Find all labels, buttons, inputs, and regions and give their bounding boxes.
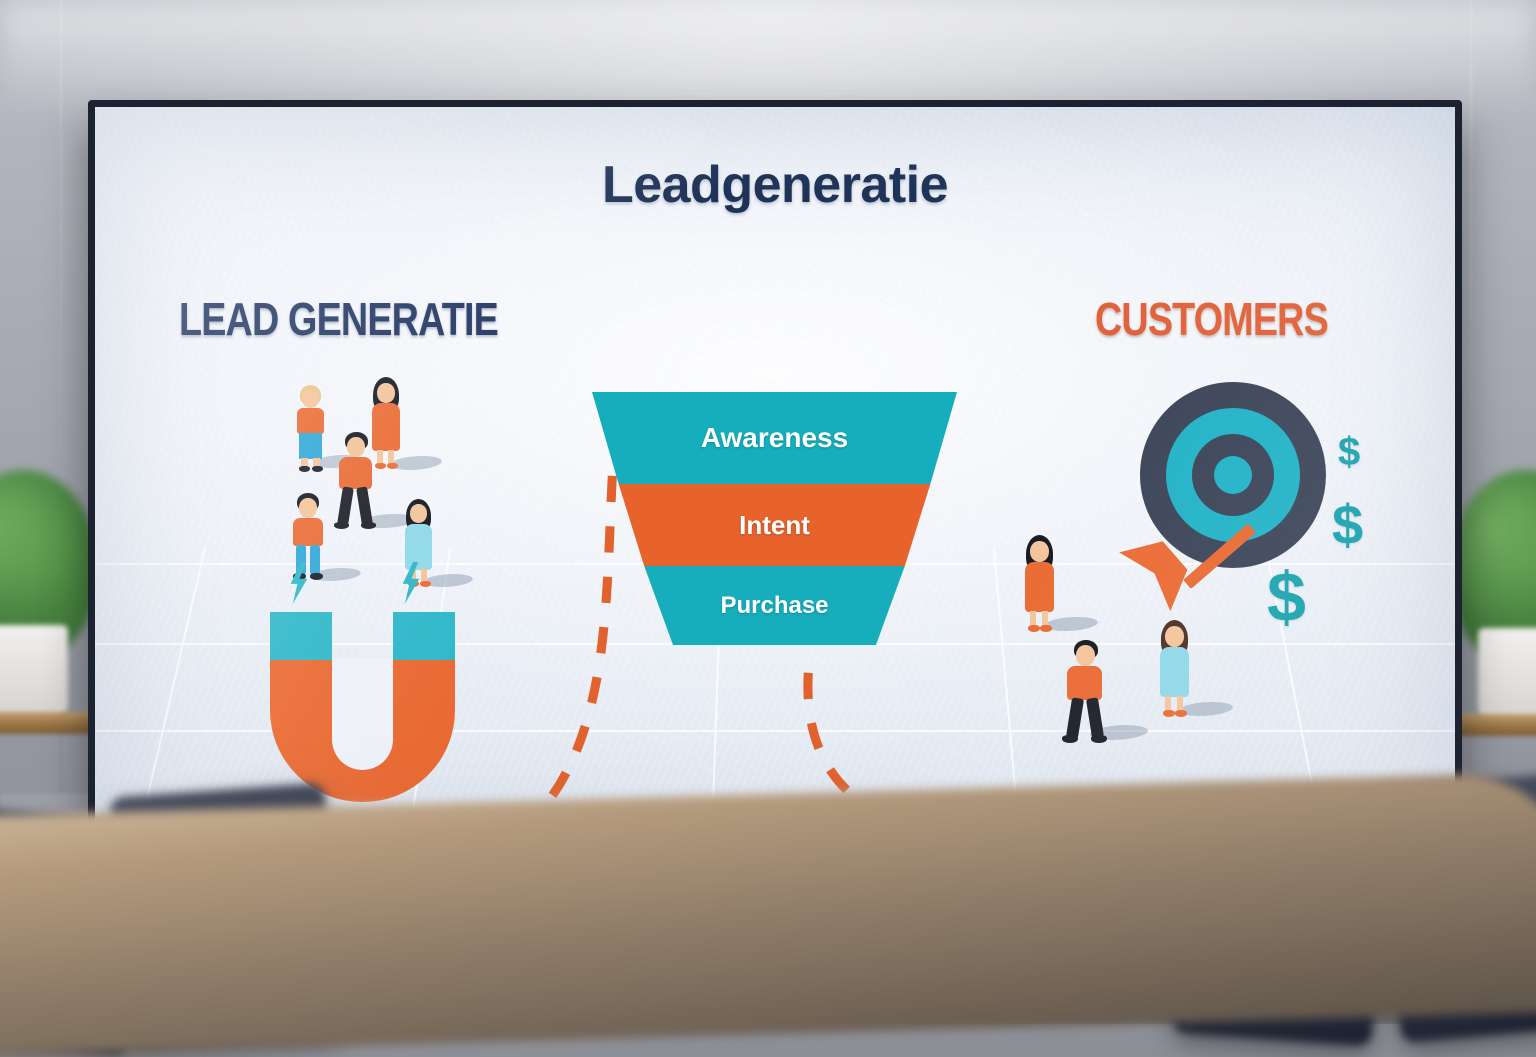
dollar-sign-icon: $: [1338, 432, 1360, 472]
plant-pot: [0, 625, 68, 717]
conference-table: [0, 771, 1536, 1056]
target-bullseye-icon: [1140, 382, 1326, 568]
slide-canvas: Leadgeneratie LEAD GENERATIE CUSTOMERS A…: [95, 107, 1455, 867]
person-long-hair-light-blue-dress: [1150, 620, 1198, 720]
funnel-stage-awareness[interactable]: Awareness: [592, 392, 957, 484]
dollar-sign-icon: $: [1267, 562, 1306, 632]
funnel-stage-label: Intent: [739, 510, 810, 541]
funnel-stage-intent[interactable]: Intent: [592, 484, 957, 566]
section-heading-customers: CUSTOMERS: [1095, 292, 1328, 346]
magnet-tip: [393, 612, 455, 660]
slide-title: Leadgeneratie: [95, 155, 1455, 215]
funnel-stage-purchase[interactable]: Purchase: [592, 566, 957, 645]
conversion-funnel[interactable]: Awareness Intent Purchase: [592, 392, 957, 645]
magnet-arm-left: [270, 612, 332, 802]
magnet-inner-gap: [332, 658, 393, 770]
person-long-hair-orange-dress: [1015, 535, 1063, 635]
section-heading-lead-generatie: LEAD GENERATIE: [179, 292, 498, 346]
presentation-screen[interactable]: Leadgeneratie LEAD GENERATIE CUSTOMERS A…: [88, 100, 1462, 874]
magnet-arm-right: [393, 612, 455, 802]
person-dark-hair-orange-shirt: [327, 432, 383, 532]
person-long-hair-light-blue-dress: [395, 499, 441, 591]
plant-pot: [1478, 628, 1536, 720]
funnel-stage-label: Awareness: [701, 422, 848, 454]
person-dark-hair-orange-top-blue-pants: [283, 493, 331, 585]
dollar-sign-icon: $: [1332, 497, 1363, 553]
magnet-tip: [270, 612, 332, 660]
target-bullseye-center: [1214, 456, 1252, 494]
magnet-icon: [270, 612, 455, 802]
person-dark-hair-orange-shirt: [1055, 640, 1113, 744]
funnel-stage-label: Purchase: [720, 592, 828, 620]
